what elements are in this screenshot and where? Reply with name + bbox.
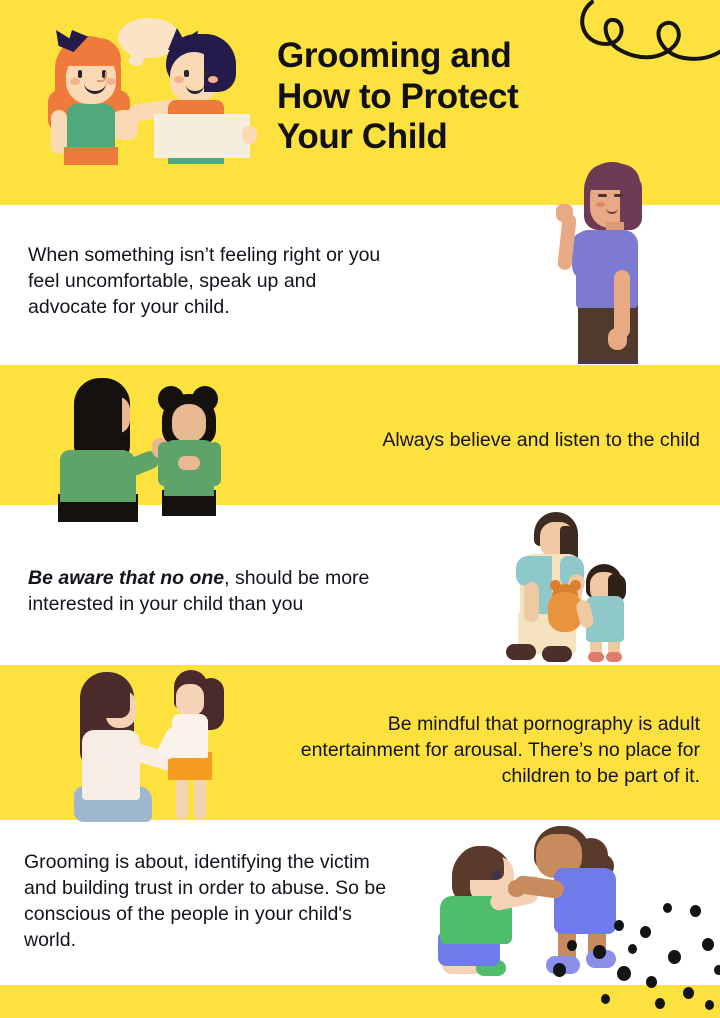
- woman-cheek: [596, 202, 605, 207]
- message-grooming-definition: Grooming is about, identifying the victi…: [24, 850, 404, 954]
- boy-eye: [492, 870, 501, 880]
- girl-dress: [554, 868, 616, 934]
- dot: [705, 1000, 714, 1010]
- dot: [553, 963, 566, 977]
- mother-and-daughter-talking-illustration: [58, 372, 248, 512]
- dot: [614, 920, 624, 931]
- dot: [714, 965, 720, 975]
- boy-hand: [242, 126, 257, 144]
- dot: [628, 944, 637, 954]
- girl-cheek-right: [106, 78, 116, 85]
- child-shoe-right: [606, 652, 622, 662]
- message-no-one-more-interested: Be aware that no one, should be more int…: [28, 566, 398, 618]
- girl-hand: [508, 880, 525, 897]
- dot: [640, 926, 651, 938]
- boy-eye-left: [184, 70, 189, 77]
- adult-shoe-right: [542, 646, 572, 662]
- girl-arm-left: [158, 442, 171, 486]
- dot: [593, 945, 606, 959]
- boy-cheek-left: [174, 76, 184, 83]
- dot: [663, 903, 672, 913]
- woman-raised-hand: [556, 204, 573, 222]
- dot: [702, 938, 714, 951]
- mother-hair-front: [84, 674, 130, 718]
- girl-leg-left: [176, 778, 188, 820]
- footer-band: [0, 985, 720, 1018]
- dot: [617, 966, 631, 981]
- woman-sleeve: [572, 232, 598, 280]
- boy-hair-side: [204, 46, 236, 92]
- mother-top: [82, 730, 140, 800]
- mother-hair-front: [78, 382, 122, 452]
- infographic-poster: Grooming and How to Protect Your Child: [0, 0, 720, 1018]
- adult-shoe-left: [506, 644, 536, 660]
- child-shoe-left: [588, 652, 604, 662]
- dot: [567, 940, 577, 951]
- girl-eye-left: [78, 70, 82, 78]
- boy-holding-board: [154, 114, 250, 158]
- dot: [655, 998, 665, 1009]
- woman-eye-right: [614, 194, 623, 197]
- girl-hands: [178, 456, 200, 470]
- woman-speaking-up-illustration: [548, 158, 668, 363]
- girl-face: [176, 684, 204, 716]
- dot: [668, 950, 681, 964]
- woman-eye-left: [598, 194, 607, 197]
- kneeling-mother-holding-hands-illustration: [62, 668, 227, 823]
- message-emphasis: Be aware that no one: [28, 567, 224, 589]
- woman-lowered-hand: [608, 328, 627, 350]
- girl-leg-right: [194, 778, 206, 820]
- message-advocate: When something isn’t feeling right or yo…: [28, 243, 388, 321]
- dot: [690, 905, 701, 917]
- adult-giving-teddy-to-child-illustration: [490, 508, 640, 666]
- message-pornography: Be mindful that pornography is adult ent…: [270, 712, 700, 790]
- girl-and-boy-illustration: [18, 10, 258, 200]
- message-believe-listen: Always believe and listen to the child: [280, 428, 700, 454]
- page-title: Grooming and How to Protect Your Child: [277, 36, 607, 158]
- boy-eye-right: [204, 70, 209, 77]
- dot: [646, 976, 657, 988]
- boy-cheek-right: [208, 76, 218, 83]
- adult-arm-left: [524, 582, 539, 622]
- dot: [601, 994, 610, 1004]
- girl-cheek-left: [70, 78, 80, 85]
- dot: [683, 987, 694, 999]
- squiggle-doodle-icon: [580, 0, 720, 88]
- girl-arm-right: [208, 442, 221, 486]
- girl-skirt: [64, 147, 118, 165]
- two-children-reaching-illustration: [430, 824, 645, 989]
- girl-face: [172, 404, 206, 442]
